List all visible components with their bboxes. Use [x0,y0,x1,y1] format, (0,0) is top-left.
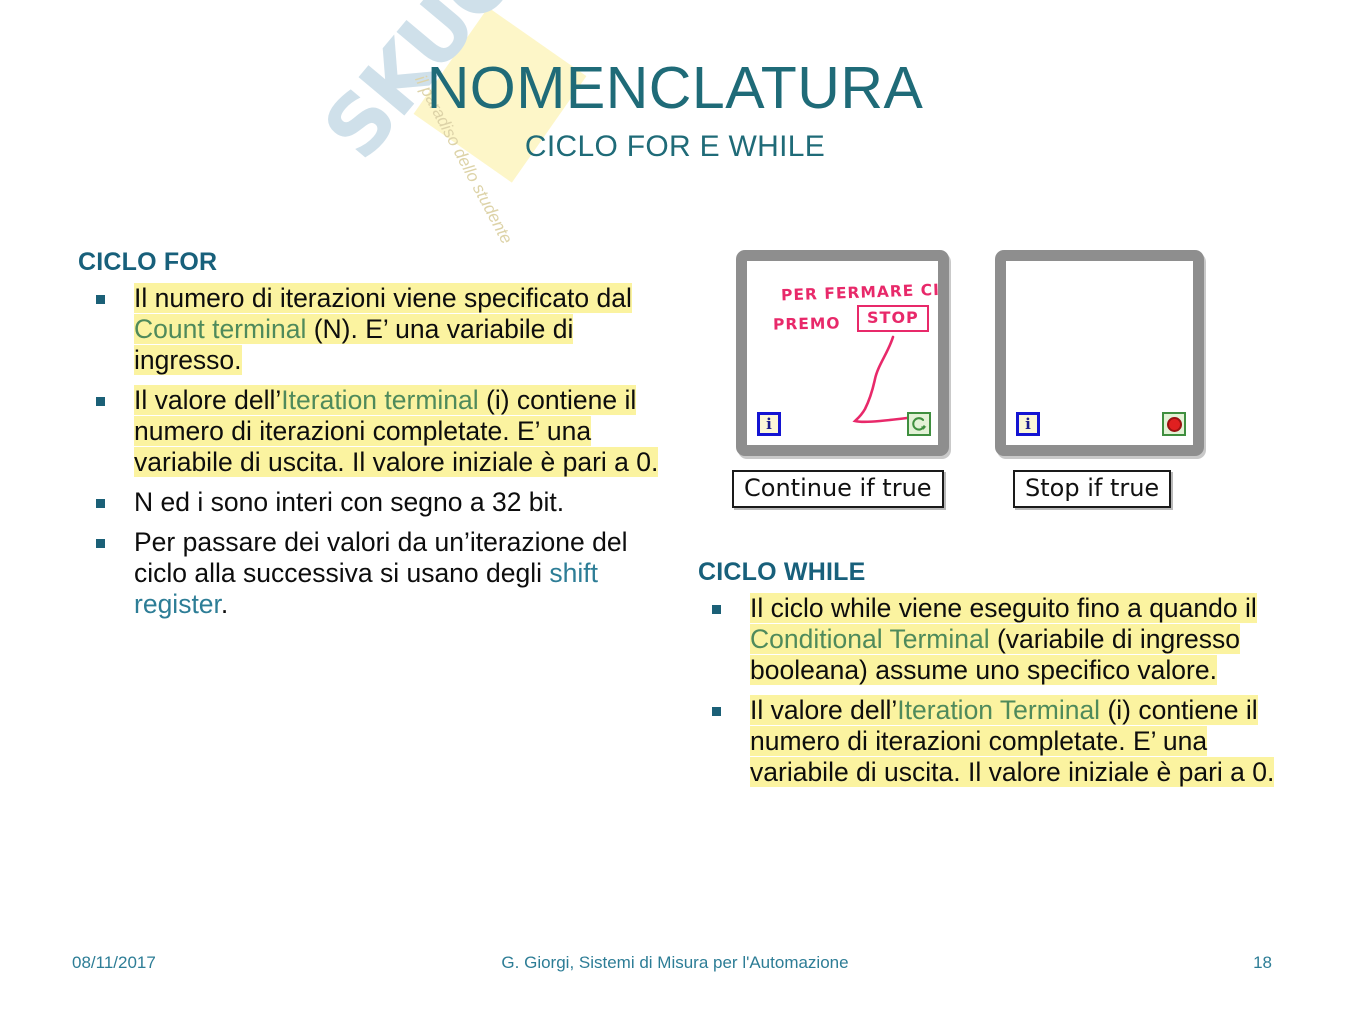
text-run: Iteration terminal [281,385,478,415]
footer-attribution: G. Giorgi, Sistemi di Misura per l'Autom… [0,953,1350,973]
iteration-terminal[interactable]: i [757,412,781,436]
stop-if-true-loop: i Stop if true [995,250,1204,456]
list-item: Il valore dell’Iteration Terminal (i) co… [698,695,1278,788]
title-block: NOMENCLATURA CICLO FOR E WHILE [0,58,1350,164]
bullet-square-icon [96,397,105,406]
while-loop-frame: i [995,250,1204,456]
text-run: Iteration Terminal [897,695,1100,725]
loop-interior: PER FERMARE CICLO PREMO STOP i [747,261,938,445]
continue-if-true-loop: PER FERMARE CICLO PREMO STOP i Continue … [736,250,949,456]
ciclo-for-section: CICLO FOR Il numero di iterazioni viene … [78,248,674,629]
loop-caption-stop: Stop if true [1013,470,1171,508]
continue-arrow-icon [910,415,928,433]
bullet-square-icon [712,605,721,614]
ciclo-while-bullet-list: Il ciclo while viene eseguito fino a qua… [698,593,1278,788]
list-item: Il ciclo while viene eseguito fino a qua… [698,593,1278,686]
footer-page-number: 18 [1253,953,1272,973]
ciclo-while-section: CICLO WHILE Il ciclo while viene eseguit… [698,558,1278,797]
page-title: NOMENCLATURA [0,58,1350,120]
loop-interior: i [1006,261,1193,445]
text-run: Il valore dell’ [750,695,897,725]
section-heading-ciclo-while: CICLO WHILE [698,558,1278,587]
text-run: Il valore dell’ [134,385,281,415]
bullet-square-icon [96,539,105,548]
bullet-square-icon [96,295,105,304]
iteration-terminal[interactable]: i [1016,412,1040,436]
list-item: Il valore dell’Iteration terminal (i) co… [78,385,674,478]
list-item: Per passare dei valori da un’iterazione … [78,527,674,620]
section-heading-ciclo-for: CICLO FOR [78,248,674,277]
ciclo-for-bullet-list: Il numero di iterazioni viene specificat… [78,283,674,620]
while-loop-frame: PER FERMARE CICLO PREMO STOP i [736,250,949,456]
page-subtitle: CICLO FOR E WHILE [0,130,1350,164]
iteration-terminal-label: i [1025,417,1031,432]
slide-footer: 08/11/2017 G. Giorgi, Sistemi di Misura … [0,953,1350,979]
iteration-terminal-label: i [766,417,772,432]
text-run: Conditional Terminal [750,624,990,654]
text-run: Count terminal [134,314,306,344]
bullet-square-icon [712,707,721,716]
list-item: Il numero di iterazioni viene specificat… [78,283,674,376]
text-run: N ed i sono interi con segno a 32 bit. [134,487,564,517]
stop-sign-icon [1167,417,1182,432]
loop-caption-continue: Continue if true [732,470,944,508]
list-item: N ed i sono interi con segno a 32 bit. [78,487,674,518]
conditional-terminal-continue[interactable] [907,412,931,436]
text-run: Il numero di iterazioni viene specificat… [134,283,632,313]
text-run: . [221,589,228,619]
conditional-terminal-stop[interactable] [1162,412,1186,436]
text-run: Il ciclo while viene eseguito fino a qua… [750,593,1257,623]
bullet-square-icon [96,499,105,508]
